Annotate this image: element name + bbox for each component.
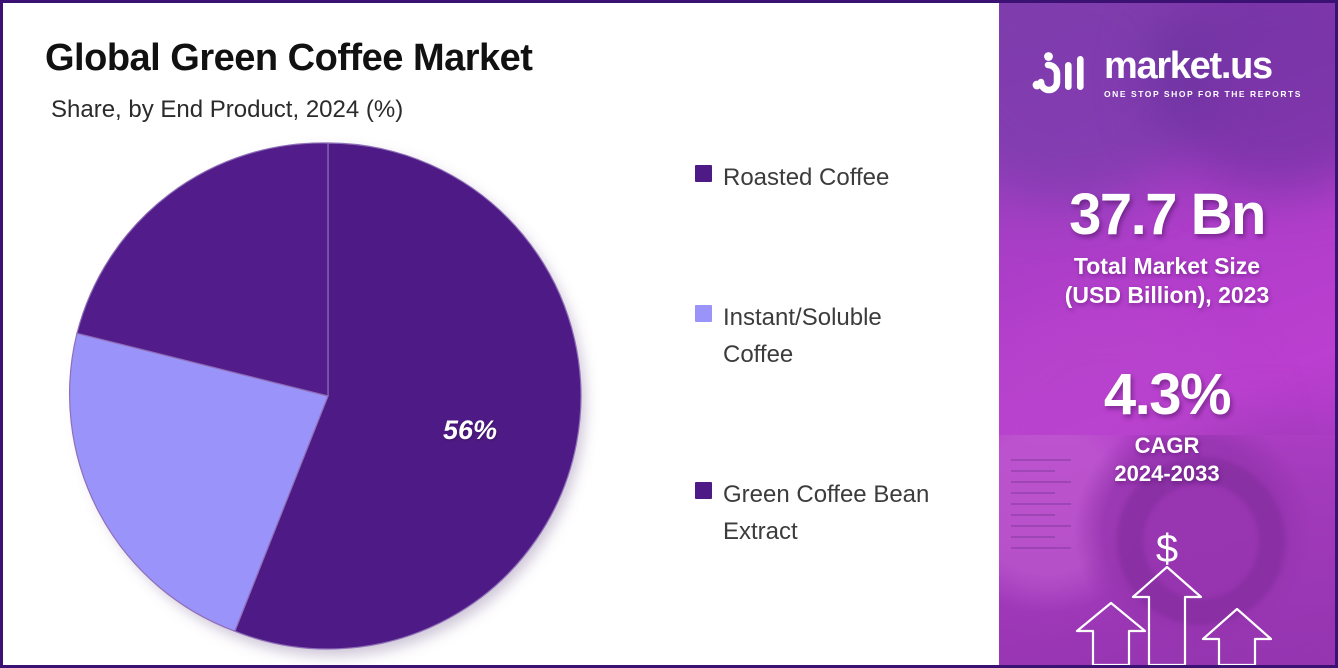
stat-caption-line: CAGR (999, 432, 1335, 461)
legend-item-label: Roasted Coffee (723, 159, 889, 196)
market-us-logo-icon (1032, 52, 1094, 94)
growth-arrows-graphic: $ (999, 505, 1335, 665)
logo-text: market.us ONE STOP SHOP FOR THE REPORTS (1104, 47, 1302, 99)
brand-logo[interactable]: market.us ONE STOP SHOP FOR THE REPORTS (999, 47, 1335, 99)
chart-subtitle: Share, by End Product, 2024 (%) (51, 96, 403, 124)
chart-panel: Global Green Coffee Market Share, by End… (3, 3, 999, 665)
infographic-root: Global Green Coffee Market Share, by End… (0, 0, 1338, 668)
stat-cagr: 4.3% CAGR 2024-2033 (999, 365, 1335, 489)
logo-tagline: ONE STOP SHOP FOR THE REPORTS (1104, 89, 1302, 99)
legend-item-label: Instant/Soluble Coffee (723, 299, 953, 373)
arrow-up-left-icon (1077, 603, 1145, 665)
stat-value: 37.7 Bn (999, 185, 1335, 246)
stat-caption-line: 2024-2033 (999, 460, 1335, 489)
legend-swatch-icon (695, 165, 712, 182)
chart-legend: Roasted Coffee Instant/Soluble Coffee Gr… (695, 159, 975, 550)
stat-value: 4.3% (999, 365, 1335, 426)
legend-item-label: Green Coffee Bean Extract (723, 476, 953, 550)
stat-caption: Total Market Size (USD Billion), 2023 (999, 252, 1335, 310)
legend-item-green-coffee-bean-extract[interactable]: Green Coffee Bean Extract (695, 476, 975, 550)
legend-item-roasted-coffee[interactable]: Roasted Coffee (695, 159, 975, 196)
legend-swatch-icon (695, 305, 712, 322)
legend-swatch-icon (695, 482, 712, 499)
pie-chart: 56% (75, 143, 581, 649)
stat-total-market-size: 37.7 Bn Total Market Size (USD Billion),… (999, 185, 1335, 309)
arrow-up-center-icon (1133, 567, 1201, 665)
arrow-up-right-icon (1203, 609, 1271, 665)
stat-caption-line: (USD Billion), 2023 (999, 281, 1335, 310)
stat-caption: CAGR 2024-2033 (999, 432, 1335, 489)
stat-caption-line: Total Market Size (999, 252, 1335, 281)
background-blob (999, 3, 1209, 203)
stats-panel: market.us ONE STOP SHOP FOR THE REPORTS … (999, 3, 1335, 665)
pie-svg (75, 143, 581, 649)
logo-wordmark: market.us (1104, 47, 1272, 85)
dollar-sign-icon: $ (999, 529, 1335, 569)
pie-slice-value-label: 56% (443, 415, 497, 446)
legend-item-instant-soluble-coffee[interactable]: Instant/Soluble Coffee (695, 299, 975, 373)
page-title: Global Green Coffee Market (45, 37, 532, 80)
